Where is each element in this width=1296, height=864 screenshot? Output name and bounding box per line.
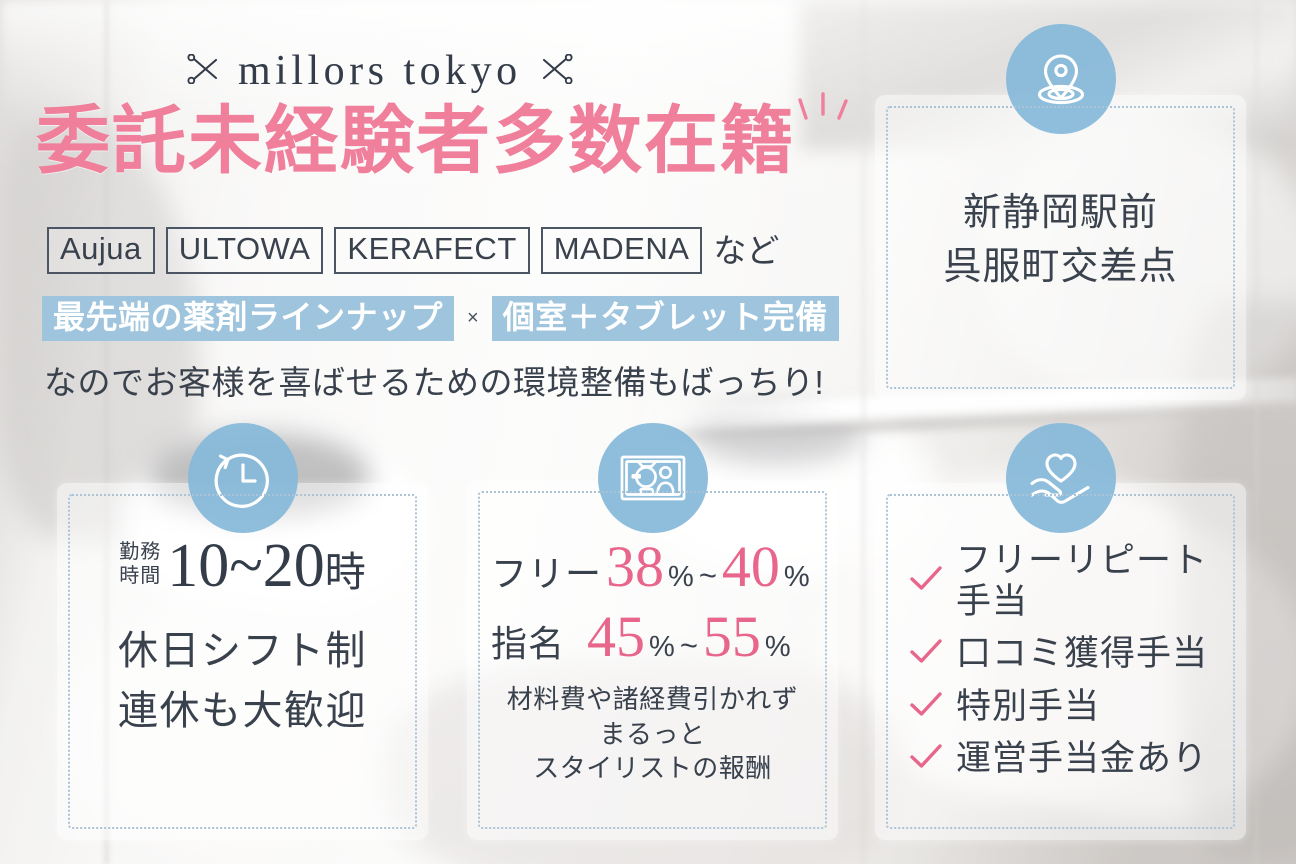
- working-hours-line-3: 連休も大歓迎: [57, 678, 428, 736]
- allowance-label: 特別手当: [956, 687, 1100, 728]
- pay-row-request: 指名 45 % ~ 55 %: [491, 608, 820, 667]
- highlight-bar-right: 個室＋タブレット完備: [492, 296, 839, 341]
- pay-note-line-2: まるっと: [479, 717, 826, 752]
- highlight-bar-left: 最先端の薬剤ラインナップ: [42, 296, 454, 341]
- scissors-icon: [186, 54, 220, 89]
- check-icon: [909, 638, 943, 671]
- working-hours-range: 10~20: [167, 532, 325, 600]
- highlight-bars: 最先端の薬剤ラインナップ × 個室＋タブレット完備: [42, 296, 839, 341]
- check-icon: [909, 565, 943, 598]
- list-item: 特別手当: [909, 687, 1232, 728]
- scissors-icon: [540, 54, 574, 89]
- recruitment-banner: millors tokyo 委託未経験者多数在籍: [0, 0, 1296, 864]
- working-hours-label-line-2: 時間: [119, 565, 161, 589]
- pay-note-line-3: スタイリストの報酬: [479, 751, 826, 786]
- list-item: フリーリピート手当: [909, 541, 1232, 622]
- headline-block: 委託未経験者多数在籍: [36, 104, 796, 178]
- pay-free-to: 40: [722, 538, 780, 596]
- pay-percent-sign: %: [649, 631, 675, 664]
- card-working-hours: 勤務 時間 10~20時 休日シフト制 連休も大歓迎: [57, 483, 428, 840]
- pay-range-tilde: ~: [679, 628, 699, 664]
- pay-request-from: 45: [587, 608, 645, 666]
- pay-label-free: フリー: [491, 545, 602, 597]
- working-hours-value: 10~20時: [167, 535, 366, 597]
- pay-row-free: フリー 38 % ~ 40 %: [491, 538, 820, 597]
- pay-percent-sign: %: [668, 561, 694, 594]
- pay-percent-sign: %: [784, 561, 810, 594]
- highlight-bars-separator: ×: [467, 307, 479, 330]
- check-icon: [909, 743, 943, 776]
- allowance-label: 運営手当金あり: [956, 739, 1208, 780]
- card-allowances: フリーリピート手当 口コミ獲得手当 特別手当: [875, 483, 1246, 840]
- pay-range-tilde: ~: [698, 558, 718, 594]
- working-hours-row: 勤務 時間 10~20時: [57, 535, 428, 597]
- working-hours-label: 勤務 時間: [119, 541, 161, 591]
- card-pay-rates: フリー 38 % ~ 40 % 指名 45 % ~ 55 % 材料費や諸経費引か…: [467, 480, 838, 840]
- sub-copy: なのでお客様を喜ばせるための環境整備もばっちり!: [44, 356, 824, 404]
- brand-chip: MADENA: [541, 227, 703, 274]
- page-headline: 委託未経験者多数在籍: [36, 104, 796, 178]
- working-hours-unit: 時: [325, 549, 366, 595]
- brand-chip: KERAFECT: [334, 227, 529, 274]
- logo-wordmark: millors tokyo: [238, 50, 522, 92]
- brand-chip: Aujua: [47, 227, 155, 274]
- working-hours-line-2: 休日シフト制: [57, 618, 428, 676]
- location-line-1: 新静岡駅前: [875, 187, 1246, 241]
- pay-note: 材料費や諸経費引かれず まるっと スタイリストの報酬: [479, 682, 826, 786]
- brand-logo: millors tokyo: [186, 50, 574, 92]
- product-brand-chips: Aujua ULTOWA KERAFECT MADENA など: [47, 224, 779, 274]
- pay-free-from: 38: [606, 538, 664, 596]
- pay-label-request: 指名: [491, 615, 565, 667]
- pay-note-line-1: 材料費や諸経費引かれず: [479, 682, 826, 717]
- card-location: 新静岡駅前 呉服町交差点: [875, 95, 1246, 400]
- check-icon: [909, 691, 943, 724]
- working-hours-label-line-1: 勤務: [119, 541, 161, 565]
- location-line-2: 呉服町交差点: [875, 241, 1246, 295]
- allowance-label: フリーリピート手当: [956, 541, 1232, 622]
- brand-chips-suffix: など: [713, 224, 779, 274]
- pay-percent-sign: %: [765, 631, 791, 664]
- allowance-list: フリーリピート手当 口コミ獲得手当 特別手当: [909, 541, 1232, 792]
- brand-chip: ULTOWA: [166, 227, 324, 274]
- list-item: 運営手当金あり: [909, 739, 1232, 780]
- pay-request-to: 55: [703, 608, 761, 666]
- location-text: 新静岡駅前 呉服町交差点: [875, 187, 1246, 295]
- allowance-label: 口コミ獲得手当: [956, 634, 1208, 675]
- list-item: 口コミ獲得手当: [909, 634, 1232, 675]
- sparkle-icon: [796, 88, 856, 135]
